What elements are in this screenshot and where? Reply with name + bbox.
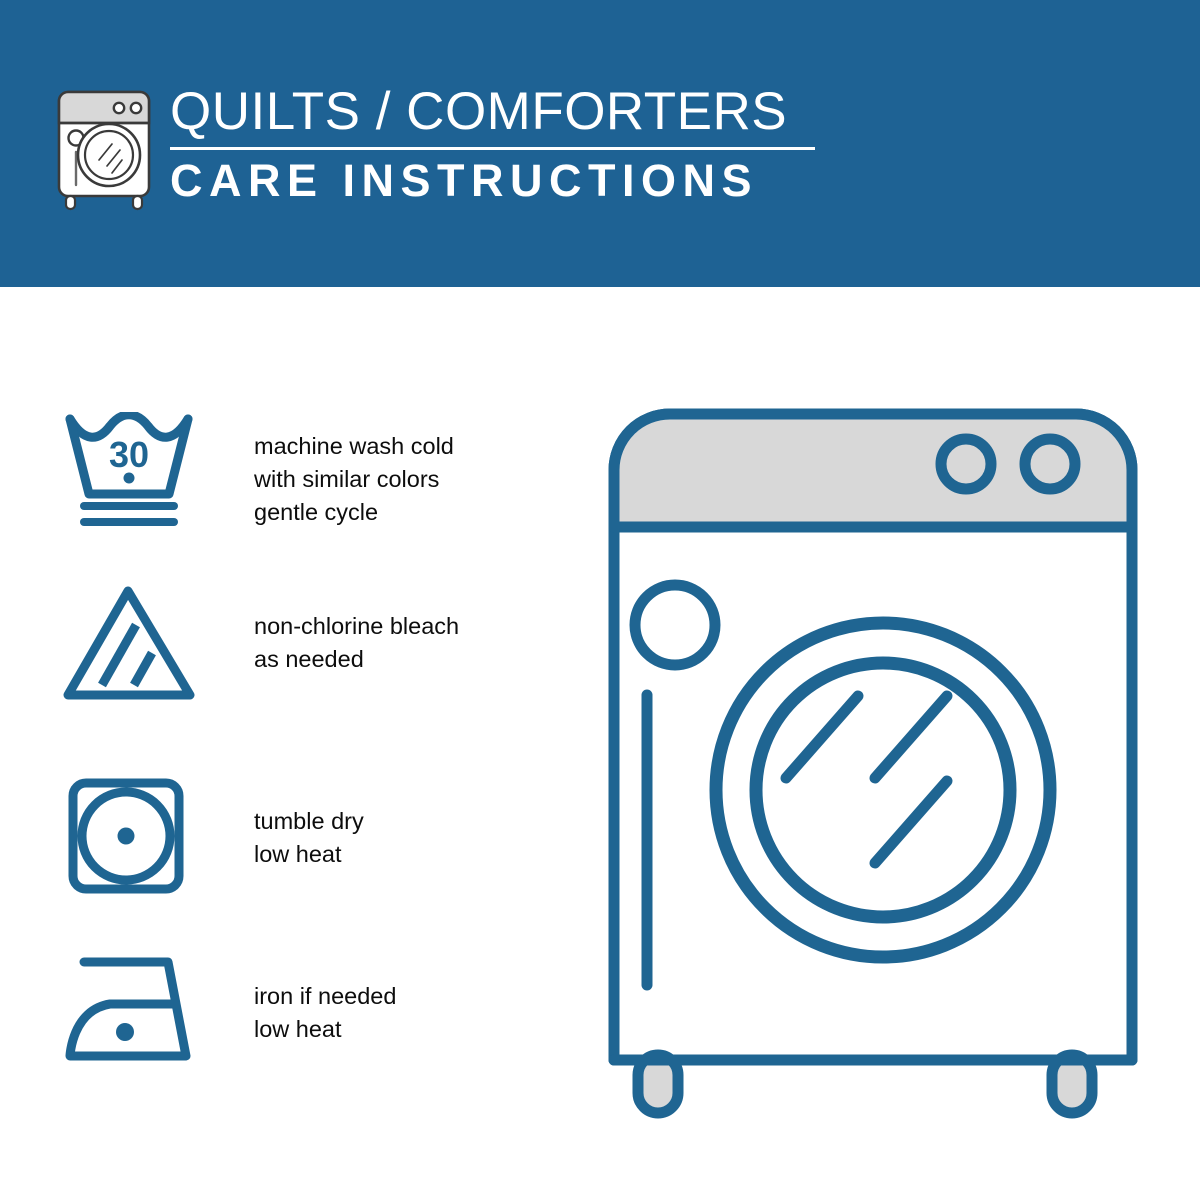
care-instructions-page: QUILTS / COMFORTERS CARE INSTRUCTIONS 30 (0, 0, 1200, 1200)
title-divider (170, 147, 815, 150)
svg-text:30: 30 (109, 434, 149, 475)
page-title: QUILTS / COMFORTERS (170, 84, 830, 140)
care-row-iron: iron if needed low heat (0, 952, 560, 1150)
care-row-machine-wash: 30 machine wash cold with similar colors… (0, 412, 560, 610)
care-label-machine-wash: machine wash cold with similar colors ge… (254, 430, 454, 529)
care-label-iron: iron if needed low heat (254, 980, 396, 1046)
header-title-block: QUILTS / COMFORTERS CARE INSTRUCTIONS (170, 84, 830, 206)
page-header: QUILTS / COMFORTERS CARE INSTRUCTIONS (0, 0, 1200, 287)
care-row-bleach: non-chlorine bleach as needed (0, 585, 560, 783)
washing-machine-large-icon (600, 400, 1160, 1130)
wash-tub-30-icon: 30 (62, 412, 202, 542)
tumble-dry-low-icon (62, 777, 202, 907)
care-instruction-list: 30 machine wash cold with similar colors… (0, 287, 560, 1200)
care-row-tumble-dry: tumble dry low heat (0, 777, 560, 975)
page-subtitle: CARE INSTRUCTIONS (170, 156, 830, 206)
care-label-tumble-dry: tumble dry low heat (254, 805, 364, 871)
bleach-triangle-icon (62, 585, 202, 715)
washing-machine-icon (52, 80, 156, 212)
care-label-bleach: non-chlorine bleach as needed (254, 610, 459, 676)
iron-low-heat-icon (62, 952, 202, 1082)
